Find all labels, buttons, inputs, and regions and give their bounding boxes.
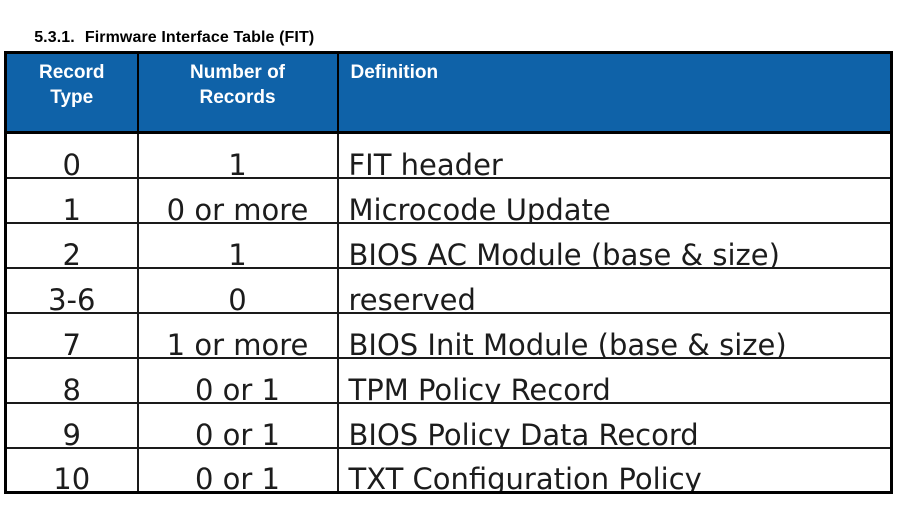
column-header-number-of-records-line1: Number of	[190, 62, 285, 83]
cell-number-of-records: 1	[138, 133, 338, 178]
cell-definition: reserved	[338, 268, 892, 313]
column-header-record-type: Record Type	[6, 53, 138, 133]
cell-definition: TPM Policy Record	[338, 358, 892, 403]
cell-record-type: 8	[6, 358, 138, 403]
cell-definition: TXT Configuration Policy	[338, 448, 892, 493]
table-row: 1 0 or more Microcode Update	[6, 178, 892, 223]
column-header-definition-line1: Definition	[351, 62, 439, 83]
cell-record-type: 10	[6, 448, 138, 493]
column-header-record-type-line2: Type	[50, 87, 93, 108]
cell-definition: FIT header	[338, 133, 892, 178]
cell-definition: BIOS AC Module (base & size)	[338, 223, 892, 268]
column-header-number-of-records: Number of Records	[138, 53, 338, 133]
section-number: 5.3.1.	[34, 29, 75, 46]
cell-definition: Microcode Update	[338, 178, 892, 223]
cell-definition: BIOS Policy Data Record	[338, 403, 892, 448]
column-header-number-of-records-line2: Records	[199, 87, 275, 108]
cell-number-of-records: 0 or 1	[138, 448, 338, 493]
table-header: Record Type Number of Records Definition	[6, 53, 892, 133]
cell-record-type: 2	[6, 223, 138, 268]
cell-number-of-records: 0 or 1	[138, 358, 338, 403]
cell-record-type: 1	[6, 178, 138, 223]
cell-number-of-records: 0	[138, 268, 338, 313]
cell-number-of-records: 0 or more	[138, 178, 338, 223]
cell-record-type: 0	[6, 133, 138, 178]
column-header-record-type-line1: Record	[39, 62, 104, 83]
cell-record-type: 3-6	[6, 268, 138, 313]
column-header-definition: Definition	[338, 53, 892, 133]
table-header-row: Record Type Number of Records Definition	[6, 53, 892, 133]
cell-record-type: 9	[6, 403, 138, 448]
table-row: 9 0 or 1 BIOS Policy Data Record	[6, 403, 892, 448]
cell-number-of-records: 0 or 1	[138, 403, 338, 448]
table-row: 8 0 or 1 TPM Policy Record	[6, 358, 892, 403]
cell-number-of-records: 1 or more	[138, 313, 338, 358]
table-row: 7 1 or more BIOS Init Module (base & siz…	[6, 313, 892, 358]
table-row: 2 1 BIOS AC Module (base & size)	[6, 223, 892, 268]
cell-number-of-records: 1	[138, 223, 338, 268]
fit-table-container: Record Type Number of Records Definition…	[4, 51, 890, 494]
section-title: Firmware Interface Table (FIT)	[85, 29, 314, 46]
firmware-interface-table: Record Type Number of Records Definition…	[4, 51, 893, 494]
cell-record-type: 7	[6, 313, 138, 358]
table-row: 0 1 FIT header	[6, 133, 892, 178]
table-row: 3-6 0 reserved	[6, 268, 892, 313]
cell-definition: BIOS Init Module (base & size)	[338, 313, 892, 358]
table-body: 0 1 FIT header 1 0 or more Microcode Upd…	[6, 133, 892, 493]
table-row: 10 0 or 1 TXT Configuration Policy	[6, 448, 892, 493]
document-page: 5.3.1.Firmware Interface Table (FIT) Rec…	[0, 0, 897, 505]
